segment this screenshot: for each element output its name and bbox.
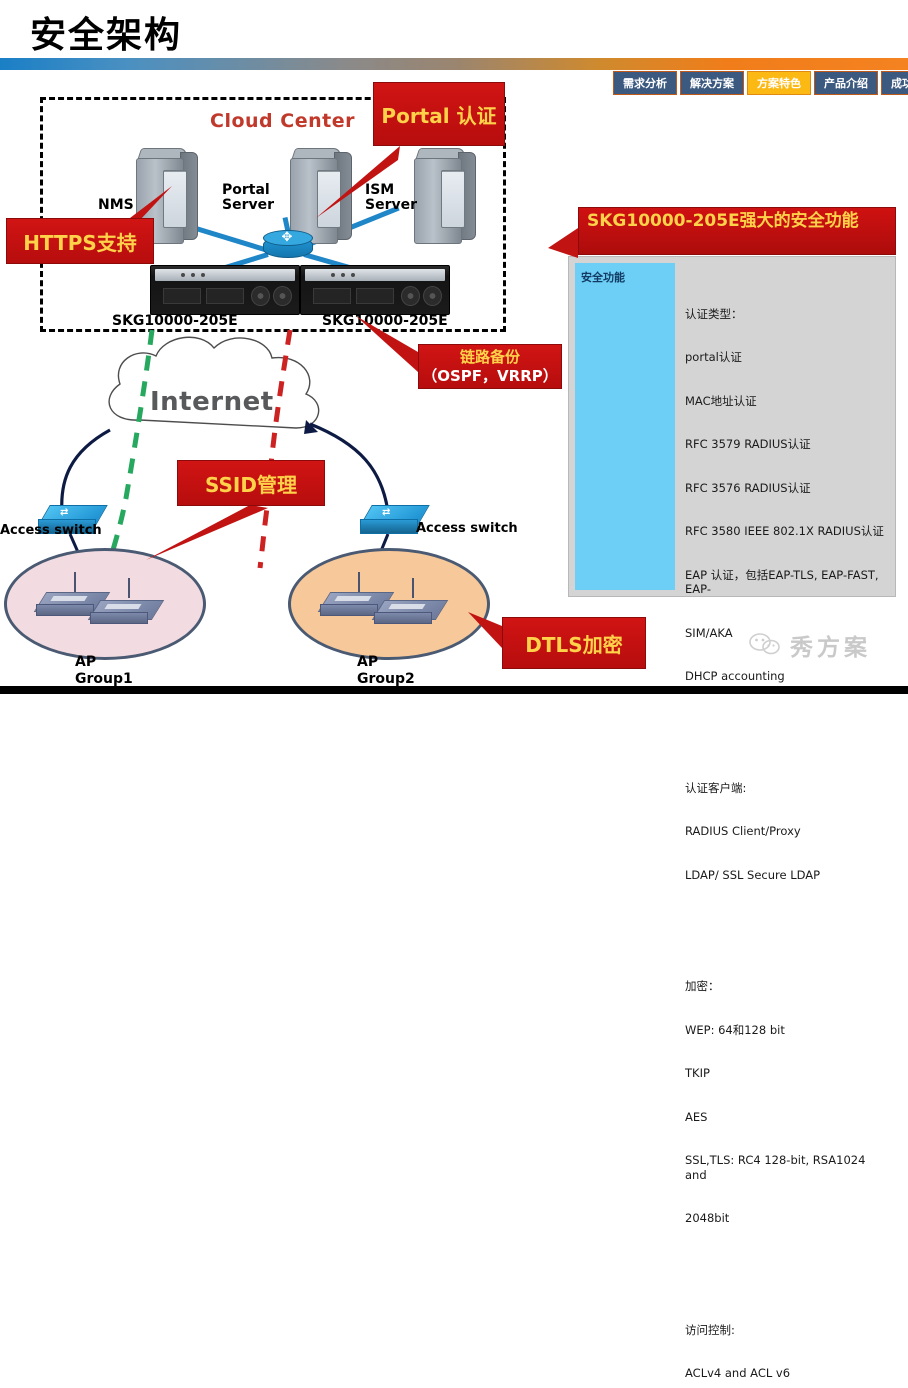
link-cloud-to-left-switch <box>62 430 110 512</box>
section-spacer <box>685 926 889 936</box>
ap-indicator-bar <box>334 596 371 601</box>
ap-group-left-label: AP Group1 <box>75 654 133 688</box>
ap-antenna <box>74 572 76 592</box>
server-label-nms: NMS <box>98 198 134 213</box>
cloud-center-label: Cloud Center <box>210 110 355 132</box>
section-line: EAP 认证，包括EAP-TLS, EAP-FAST, EAP- <box>685 568 889 597</box>
device-skg-right <box>300 265 450 315</box>
callout-link-backup: 链路备份 （OSPF，VRRP） <box>418 344 562 389</box>
section-line: DHCP accounting <box>685 669 889 684</box>
nav-tabs: 需求分析 解决方案 方案特色 产品介绍 成功案例 <box>613 71 908 95</box>
server-label-portal: Portal Server <box>222 183 274 213</box>
device-led <box>351 273 355 277</box>
section-line: WEP: 64和128 bit <box>685 1023 889 1038</box>
device-label-skg-left: SKG10000-205E <box>112 313 238 329</box>
server-label-line1: Portal <box>222 183 274 198</box>
server-drive-panel <box>163 170 187 228</box>
panel-key-label: 安全功能 <box>575 263 675 590</box>
server-label-line1: ISM <box>365 183 417 198</box>
red-dashed-tunnel <box>260 330 290 568</box>
callout-https-support: HTTPS支持 <box>6 218 154 264</box>
panel-header-title: SKG10000-205E强大的安全功能 <box>578 207 896 255</box>
network-router-icon: ✥ <box>263 230 311 260</box>
section-heading: 访问控制: <box>685 1323 889 1338</box>
ap-antenna <box>358 572 360 592</box>
server-drive-panel <box>441 170 465 228</box>
tab-success-cases[interactable]: 成功案例 <box>881 71 908 95</box>
callout-link-backup-line2: （OSPF，VRRP） <box>422 367 558 386</box>
tab-solution-features[interactable]: 方案特色 <box>747 71 811 95</box>
page-title: 安全架构 <box>30 6 182 58</box>
access-switch-left-label: Access switch <box>0 523 102 538</box>
internet-label: Internet <box>150 387 274 417</box>
access-switch-right-label: Access switch <box>416 521 518 536</box>
device-top-strip <box>155 269 295 281</box>
section-line: MAC地址认证 <box>685 394 889 409</box>
server-ism <box>414 148 474 242</box>
ap-group-right-label: AP Group2 <box>357 654 415 688</box>
ap-antenna <box>128 578 130 598</box>
ap-indicator-bar <box>50 596 87 601</box>
security-features-panel: 安全功能 认证类型： portal认证 MAC地址认证 RFC 3579 RAD… <box>568 256 896 597</box>
server-drive-panel <box>317 170 341 228</box>
router-arrows: ✥ <box>272 230 302 244</box>
callout-link-backup-line1: 链路备份 <box>460 348 520 367</box>
bottom-bar <box>0 686 908 694</box>
section-line: AES <box>685 1110 889 1125</box>
device-led <box>341 273 345 277</box>
device-led <box>181 273 185 277</box>
device-fan <box>401 286 420 306</box>
device-slot <box>356 288 394 304</box>
server-label-line2: Server <box>222 198 274 213</box>
section-spacer <box>685 1269 889 1279</box>
ap-device <box>90 588 162 628</box>
device-slot <box>206 288 244 304</box>
section-line: RADIUS Client/Proxy <box>685 824 889 839</box>
callout-dtls-encryption: DTLS加密 <box>502 617 646 669</box>
device-led <box>201 273 205 277</box>
device-skg-left <box>150 265 300 315</box>
section-heading: 认证客户端: <box>685 781 889 796</box>
device-slot <box>163 288 201 304</box>
section-line: portal认证 <box>685 350 889 365</box>
callout-portal-auth: Portal 认证 <box>373 82 505 146</box>
device-fan <box>423 286 442 306</box>
section-line: ACLv4 and ACL v6 <box>685 1366 889 1381</box>
ssid-callout-tail <box>146 505 268 560</box>
section-spacer <box>685 727 889 737</box>
title-gradient-rule <box>0 58 908 70</box>
ap-label-line1: AP <box>357 654 415 671</box>
ap-indicator-bar <box>104 604 141 609</box>
watermark: 秀方案 <box>748 628 871 662</box>
device-slot <box>313 288 351 304</box>
tab-product-intro[interactable]: 产品介绍 <box>814 71 878 95</box>
device-led <box>331 273 335 277</box>
green-dashed-tunnel <box>110 330 152 560</box>
switch-front-face <box>360 519 418 534</box>
ap-antenna <box>412 578 414 598</box>
switch-arrow-glyph: ⇄ <box>382 507 390 518</box>
server-portal <box>290 148 350 242</box>
panel-body: 认证类型： portal认证 MAC地址认证 RFC 3579 RADIUS认证… <box>675 257 895 596</box>
section-line: LDAP/ SSL Secure LDAP <box>685 868 889 883</box>
callout-ssid-management: SSID管理 <box>177 460 325 506</box>
section-line: SSL,TLS: RC4 128-bit, RSA1024 and <box>685 1153 889 1182</box>
watermark-text: 秀方案 <box>790 628 871 662</box>
section-heading: 加密： <box>685 979 889 994</box>
device-led <box>191 273 195 277</box>
panel-header-tail <box>548 228 578 258</box>
section-line: RFC 3580 IEEE 802.1X RADIUS认证 <box>685 524 889 539</box>
ap-front <box>36 604 94 616</box>
wechat-icon <box>748 632 782 658</box>
section-line: RFC 3576 RADIUS认证 <box>685 481 889 496</box>
section-heading: 认证类型： <box>685 307 889 322</box>
section-line: RFC 3579 RADIUS认证 <box>685 437 889 452</box>
device-fan <box>273 286 292 306</box>
tab-requirement-analysis[interactable]: 需求分析 <box>613 71 677 95</box>
switch-arrow-glyph: ⇄ <box>60 507 68 518</box>
server-label-ism: ISM Server <box>365 183 417 213</box>
device-label-skg-right: SKG10000-205E <box>322 313 448 329</box>
tab-solution[interactable]: 解决方案 <box>680 71 744 95</box>
ap-indicator-bar <box>388 604 425 609</box>
ap-front <box>320 604 378 616</box>
ap-device <box>374 588 446 628</box>
server-label-line2: Server <box>365 198 417 213</box>
device-top-strip <box>305 269 445 281</box>
section-line: 2048bit <box>685 1211 889 1226</box>
device-fan <box>251 286 270 306</box>
ap-front <box>374 612 432 624</box>
arrowhead-to-cloud <box>304 420 318 434</box>
ap-label-line1: AP <box>75 654 133 671</box>
ap-front <box>90 612 148 624</box>
section-line: TKIP <box>685 1066 889 1081</box>
